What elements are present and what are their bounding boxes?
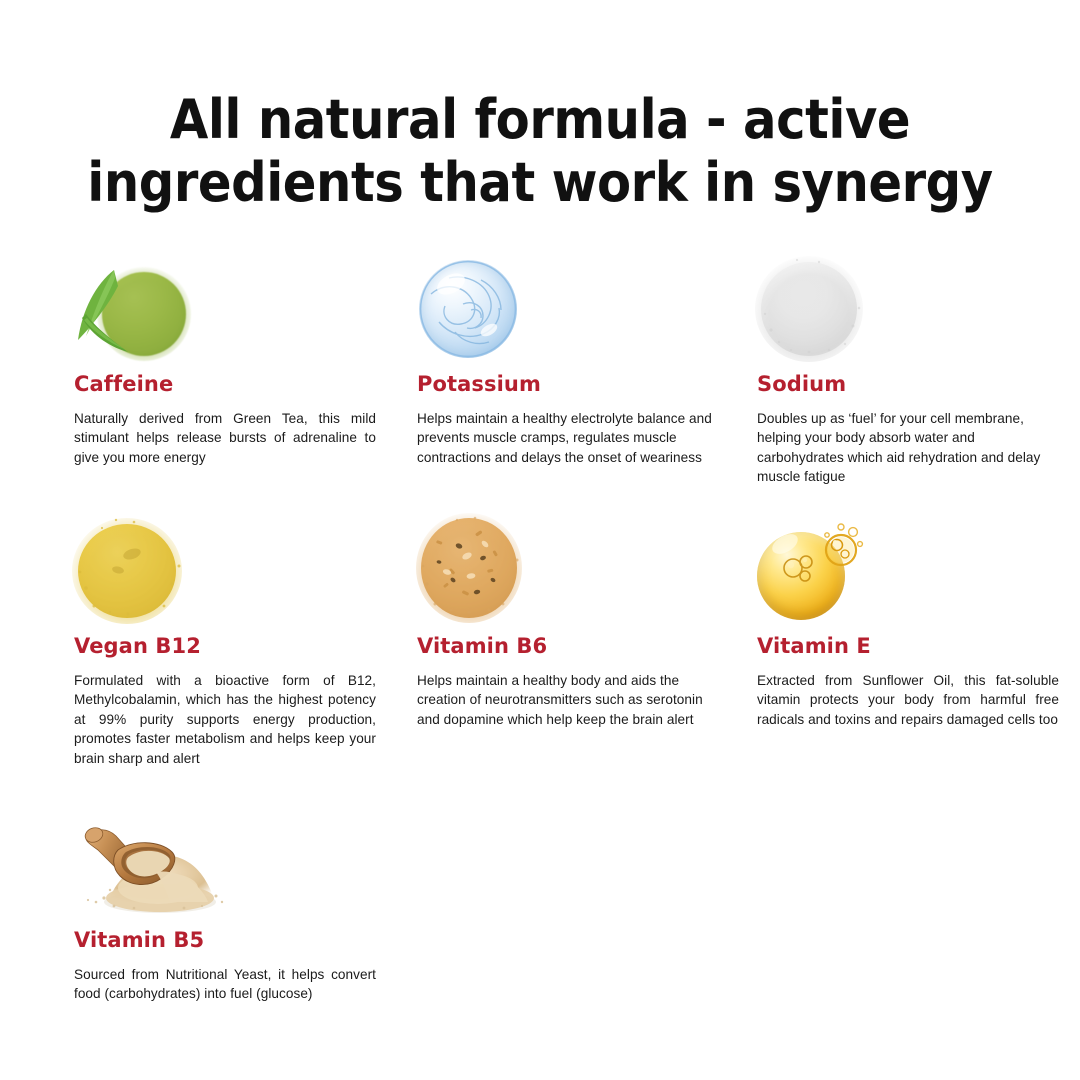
ingredient-name: Potassium	[417, 372, 719, 396]
icon-container	[757, 512, 1059, 620]
ingredient-description: Formulated with a bioactive form of B12,…	[74, 671, 376, 768]
ingredient-card-vitamin-b6: Vitamin B6 Helps maintain a healthy body…	[417, 512, 719, 729]
ingredient-description: Helps maintain a healthy body and aids t…	[417, 671, 719, 729]
ingredient-name: Sodium	[757, 372, 1059, 396]
oil-droplet-icon	[757, 520, 869, 620]
ingredient-card-vitamin-b5: Vitamin B5 Sourced from Nutritional Yeas…	[74, 802, 376, 1004]
ingredient-name: Vegan B12	[74, 634, 376, 658]
icon-container	[74, 802, 376, 914]
ingredient-description: Sourced from Nutritional Yeast, it helps…	[74, 965, 376, 1004]
page-title-line-2: ingredients that work in synergy	[43, 151, 1037, 214]
ingredient-card-sodium: Sodium Doubles up as ‘fuel’ for your cel…	[757, 250, 1059, 487]
icon-container	[74, 250, 376, 358]
green-tea-powder-icon	[74, 254, 192, 358]
water-sphere-icon	[417, 254, 521, 358]
wooden-scoop-powder-icon	[74, 810, 226, 914]
ingredient-row: Vitamin B5 Sourced from Nutritional Yeas…	[0, 802, 1080, 1032]
ingredient-name: Caffeine	[74, 372, 376, 396]
ingredient-card-potassium: Potassium Helps maintain a healthy elect…	[417, 250, 719, 467]
ingredient-description: Doubles up as ‘fuel’ for your cell membr…	[757, 409, 1059, 487]
ingredient-name: Vitamin B5	[74, 928, 376, 952]
ingredient-description: Extracted from Sunflower Oil, this fat-s…	[757, 671, 1059, 729]
icon-container	[417, 250, 719, 358]
ingredient-card-caffeine: Caffeine Naturally derived from Green Te…	[74, 250, 376, 467]
page-title-line-1: All natural formula - active	[43, 88, 1037, 151]
ingredient-name: Vitamin E	[757, 634, 1059, 658]
ingredient-description: Helps maintain a healthy electrolyte bal…	[417, 409, 719, 467]
icon-container	[417, 512, 719, 620]
ingredients-infographic: All natural formula - active ingredients…	[0, 0, 1080, 1080]
ingredient-grid: Caffeine Naturally derived from Green Te…	[0, 250, 1080, 1032]
ingredient-row: Vegan B12 Formulated with a bioactive fo…	[0, 512, 1080, 802]
ingredient-card-vitamin-e: Vitamin E Extracted from Sunflower Oil, …	[757, 512, 1059, 729]
ingredient-description: Naturally derived from Green Tea, this m…	[74, 409, 376, 467]
granular-powder-icon	[417, 510, 525, 620]
ingredient-card-vegan-b12: Vegan B12 Formulated with a bioactive fo…	[74, 512, 376, 768]
icon-container	[757, 250, 1059, 358]
ingredient-name: Vitamin B6	[417, 634, 719, 658]
page-title: All natural formula - active ingredients…	[43, 88, 1037, 214]
ingredient-row: Caffeine Naturally derived from Green Te…	[0, 250, 1080, 512]
salt-powder-icon	[757, 252, 867, 358]
yellow-powder-icon	[74, 514, 186, 620]
icon-container	[74, 512, 376, 620]
